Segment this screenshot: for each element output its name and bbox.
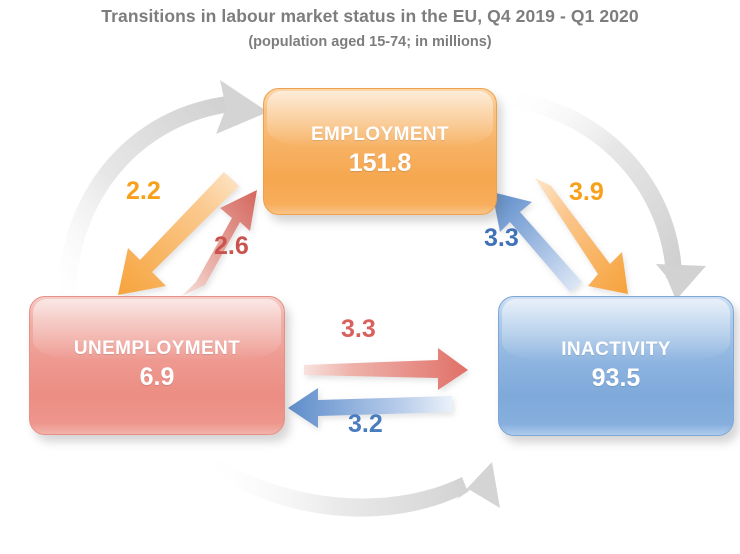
flow-label-unemployment-to-inactivity: 3.3 xyxy=(341,317,376,342)
diagram-canvas: Transitions in labour market status in t… xyxy=(0,0,740,554)
node-unemployment[interactable]: UNEMPLOYMENT 6.9 xyxy=(29,296,285,435)
node-employment-label: EMPLOYMENT xyxy=(311,125,449,146)
arrow-layer xyxy=(0,0,740,554)
flow-label-employment-to-inactivity: 3.9 xyxy=(569,180,604,205)
flow-label-inactivity-to-unemployment: 3.2 xyxy=(348,412,383,437)
flow-label-inactivity-to-employment: 3.3 xyxy=(484,226,519,251)
grey-curve-arrow-to-employment xyxy=(58,80,268,300)
grey-curve-arrow-bottom xyxy=(205,455,500,517)
node-unemployment-label: UNEMPLOYMENT xyxy=(74,339,240,360)
node-inactivity-value: 93.5 xyxy=(592,365,641,393)
node-inactivity-label: INACTIVITY xyxy=(561,340,671,361)
node-inactivity[interactable]: INACTIVITY 93.5 xyxy=(498,296,734,436)
node-unemployment-value: 6.9 xyxy=(140,364,175,392)
flow-label-employment-to-unemployment: 2.2 xyxy=(126,179,161,204)
node-employment-value: 151.8 xyxy=(349,150,412,178)
flow-label-unemployment-to-employment: 2.6 xyxy=(214,234,249,259)
flow-arrow-unemployment-to-inactivity xyxy=(304,348,468,390)
node-employment[interactable]: EMPLOYMENT 151.8 xyxy=(263,88,497,215)
